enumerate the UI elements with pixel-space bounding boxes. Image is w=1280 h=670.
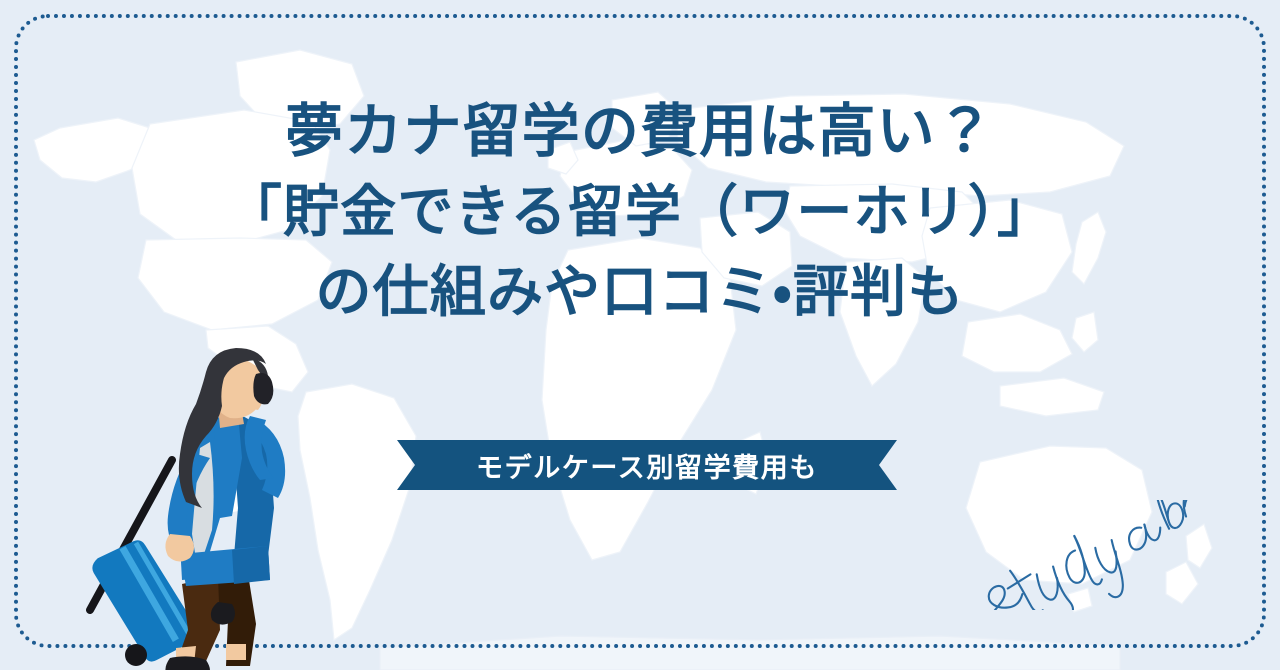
map-region-new-zealand-south: [1166, 562, 1198, 604]
map-region-indonesia: [1000, 378, 1104, 416]
headline-line-1: 夢カナ留学の費用は高い？: [0, 92, 1280, 172]
map-region-tasmania: [1068, 588, 1092, 612]
map-region-australia: [966, 446, 1152, 584]
map-region-new-zealand: [1186, 524, 1212, 568]
headline-line-3: の仕組みや口コミ・評判も: [0, 252, 1280, 332]
ribbon-label: モデルケース別留学費用も: [476, 446, 818, 485]
map-region-antarctic-edge: [380, 636, 1120, 670]
traveller-illustration: [20, 348, 330, 670]
headline-line-2: 「貯金できる留学（ワーホリ）」: [0, 172, 1280, 252]
suitcase-wheel: [125, 644, 147, 666]
hero-banner: 夢カナ留学の費用は高い？ 「貯金できる留学（ワーホリ）」 の仕組みや口コミ・評判…: [0, 0, 1280, 670]
ribbon-banner: モデルケース別留学費用も: [397, 440, 897, 490]
page-title: 夢カナ留学の費用は高い？ 「貯金できる留学（ワーホリ）」 の仕組みや口コミ・評判…: [0, 92, 1280, 332]
